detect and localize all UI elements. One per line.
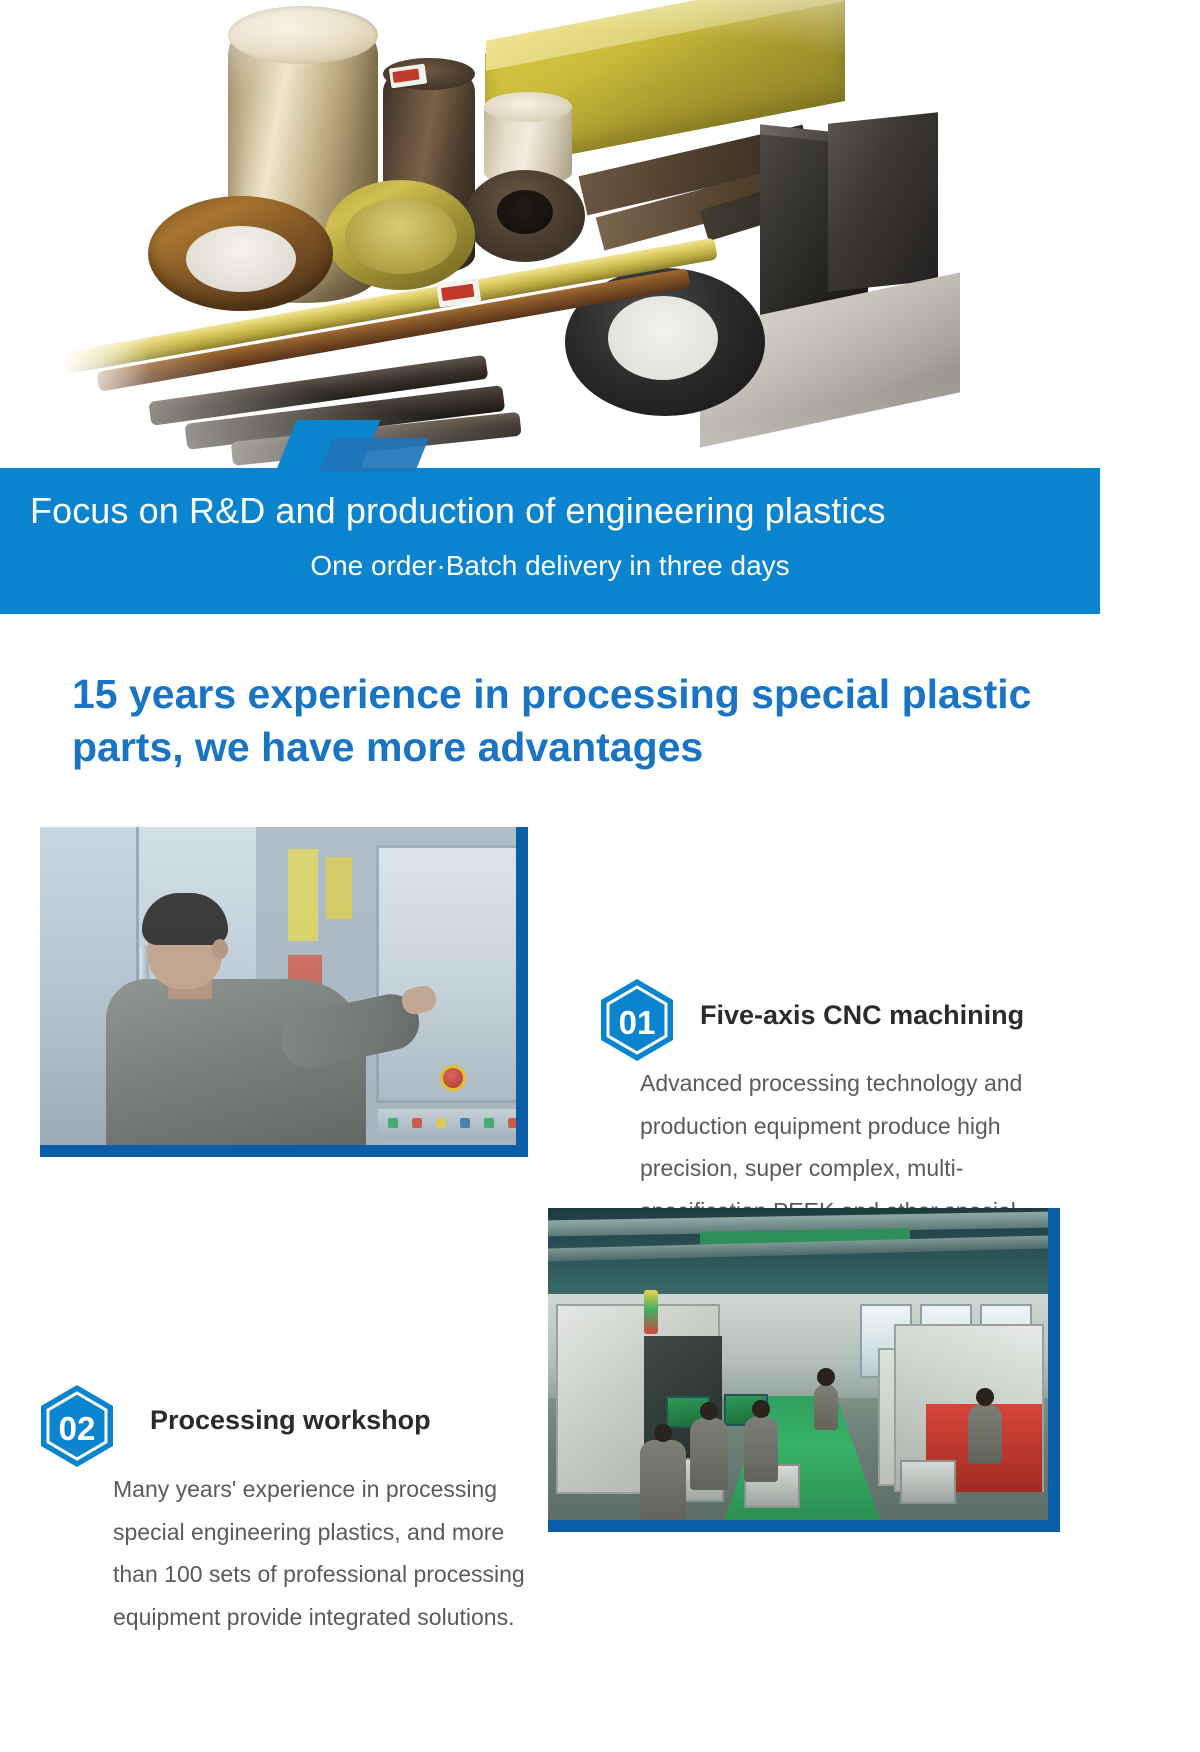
product-ivory-rod-face: [484, 92, 572, 122]
feature-02-number-badge: 02: [38, 1383, 116, 1469]
feature-02-photo: [548, 1208, 1048, 1520]
headline-banner: Focus on R&D and production of engineeri…: [0, 468, 1100, 614]
feature-01-photo: [40, 827, 520, 1147]
hero-product-image: [0, 0, 1200, 470]
workshop-worker-5: [968, 1404, 1002, 1464]
workshop-cart-3: [900, 1460, 956, 1504]
hero-product-illustration: [0, 0, 1200, 470]
feature-02-number: 02: [59, 1410, 96, 1447]
cnc-photo-tint: [40, 827, 520, 1147]
feature-01-number-badge: 01: [598, 977, 676, 1063]
product-olive-ring-bore: [345, 198, 457, 274]
banner-wedge-dark: [319, 438, 429, 472]
hexagon-badge-icon: 01: [598, 977, 676, 1063]
product-brown-ring-bore: [186, 226, 296, 292]
product-dark-ring-bore: [497, 190, 553, 234]
banner-primary-text: Focus on R&D and production of engineeri…: [30, 490, 1070, 532]
hero-right-fade: [1010, 0, 1200, 470]
product-rod-label: [436, 278, 481, 308]
product-black-block-2: [828, 112, 938, 292]
hero-left-fade: [0, 0, 150, 470]
workshop-worker-2: [690, 1418, 728, 1490]
product-black-ring-bore: [608, 296, 718, 380]
feature-01-number: 01: [619, 1004, 656, 1041]
product-tan-rod-face: [228, 6, 378, 64]
workshop-worker-4: [814, 1384, 838, 1430]
feature-02-title: Processing workshop: [150, 1405, 550, 1436]
feature-01-title: Five-axis CNC machining: [700, 1000, 1100, 1031]
hexagon-badge-icon: 02: [38, 1383, 116, 1469]
workshop-worker-3: [744, 1416, 778, 1482]
section-heading: 15 years experience in processing specia…: [72, 668, 1082, 775]
banner-secondary-text: One order·Batch delivery in three days: [0, 550, 1100, 582]
workshop-worker-1: [640, 1440, 686, 1520]
feature-02-body: Many years' experience in processing spe…: [113, 1468, 533, 1638]
workshop-signal-tower-icon: [644, 1290, 658, 1334]
